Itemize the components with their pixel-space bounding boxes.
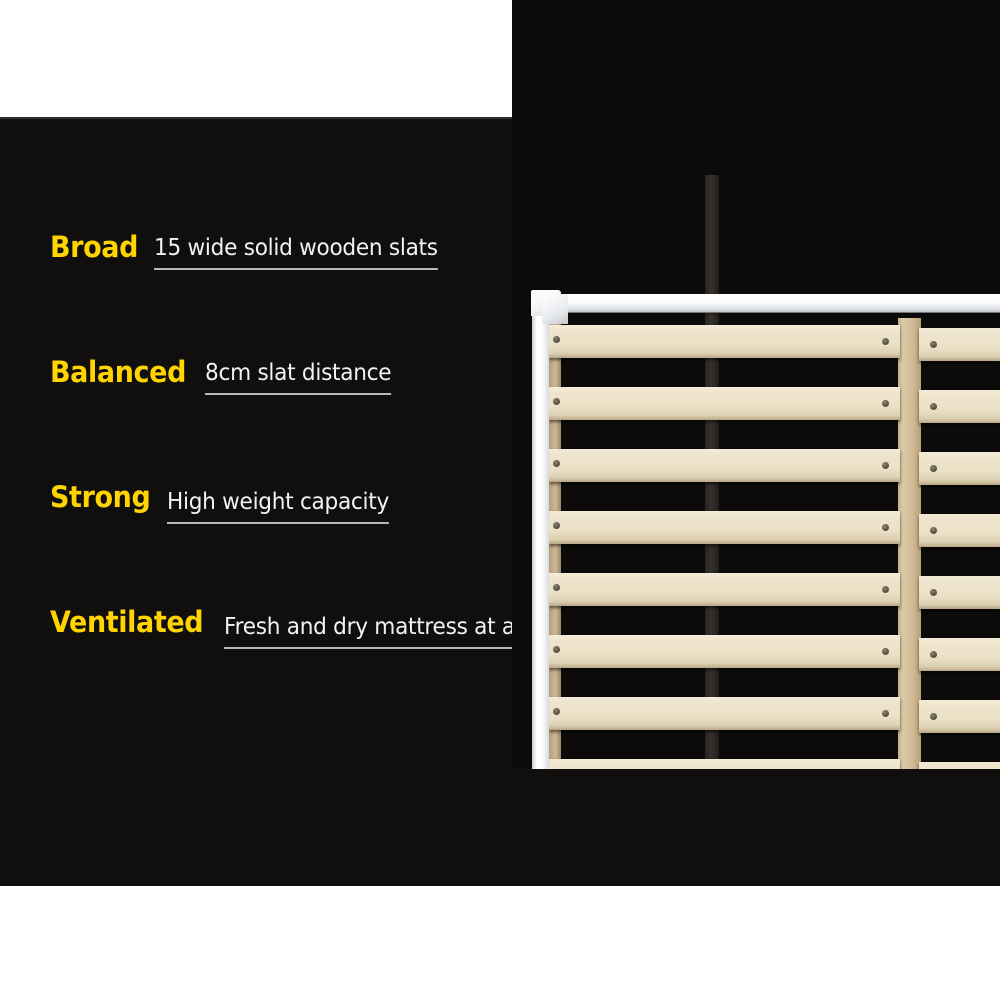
screw-icon	[930, 651, 937, 658]
feature-term: Ventilated	[50, 605, 203, 639]
slat	[549, 387, 900, 420]
feature-item-broad: Broad 15 wide solid wooden slats	[50, 230, 570, 355]
feature-item-strong: Strong High weight capacity	[50, 480, 570, 605]
feature-list: Broad 15 wide solid wooden slats Balance…	[50, 230, 570, 730]
frame-rail-shadow	[542, 312, 1000, 316]
frame-corner-post	[532, 300, 549, 769]
screw-icon	[930, 341, 937, 348]
feature-term: Strong	[50, 480, 150, 514]
product-photo-slatted-base	[512, 0, 1000, 769]
screw-icon	[882, 648, 889, 655]
screw-icon	[553, 646, 560, 653]
frame-rail-corner	[542, 294, 568, 324]
screw-icon	[882, 586, 889, 593]
feature-description: High weight capacity	[167, 488, 389, 524]
feature-term: Broad	[50, 230, 138, 264]
screw-icon	[930, 403, 937, 410]
slat	[919, 762, 1000, 769]
screw-icon	[553, 336, 560, 343]
screw-icon	[882, 524, 889, 531]
screw-icon	[553, 398, 560, 405]
slat	[549, 573, 900, 606]
slat	[549, 449, 900, 482]
slat	[549, 635, 900, 668]
slat	[549, 511, 900, 544]
feature-description: 15 wide solid wooden slats	[154, 234, 438, 270]
screw-icon	[882, 462, 889, 469]
feature-term: Balanced	[50, 355, 186, 389]
screw-icon	[553, 522, 560, 529]
screw-icon	[553, 460, 560, 467]
screw-icon	[882, 710, 889, 717]
feature-description: 8cm slat distance	[205, 359, 391, 395]
screw-icon	[553, 708, 560, 715]
screw-icon	[930, 527, 937, 534]
screw-icon	[553, 584, 560, 591]
screw-icon	[930, 589, 937, 596]
frame-top-rail	[542, 294, 1000, 313]
feature-item-balanced: Balanced 8cm slat distance	[50, 355, 570, 480]
feature-item-ventilated: Ventilated Fresh and dry mattress at all…	[50, 605, 570, 730]
product-feature-image: Reinforced thick slats Broad 15 wide sol…	[0, 0, 1000, 1000]
center-support-beam	[898, 318, 921, 769]
slat	[549, 759, 900, 769]
slat	[549, 325, 900, 358]
slat	[549, 697, 900, 730]
screw-icon	[882, 400, 889, 407]
screw-icon	[930, 465, 937, 472]
bottom-white-margin	[0, 886, 1000, 1000]
screw-icon	[930, 713, 937, 720]
screw-icon	[882, 338, 889, 345]
